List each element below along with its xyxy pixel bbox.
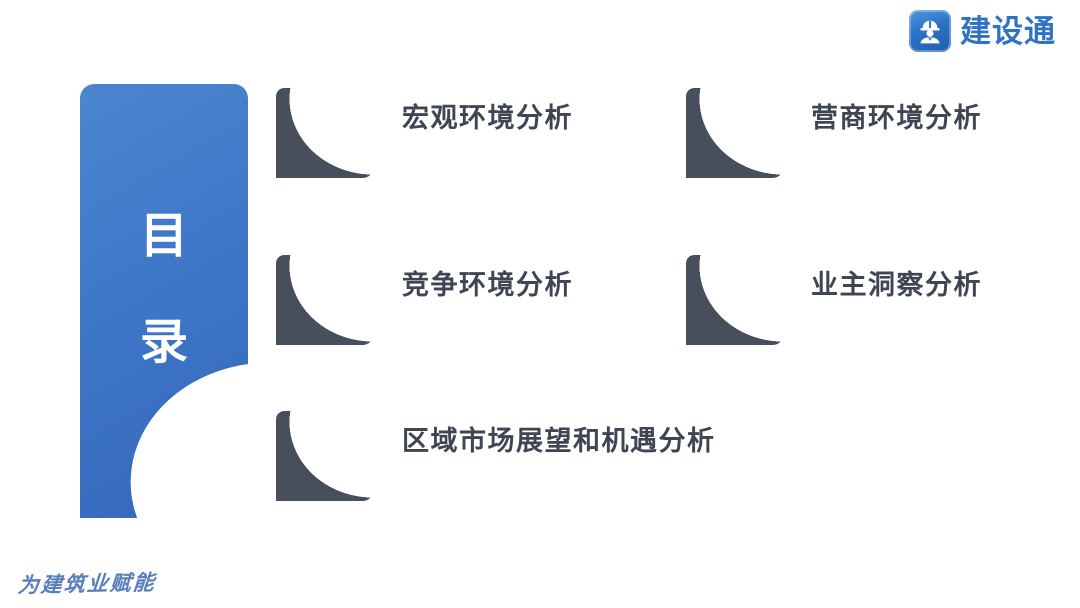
toc-badge-05: 05 (276, 411, 373, 501)
toc-number-01: 01 (276, 100, 373, 129)
brand-name: 建设通 (960, 16, 1056, 47)
toc-panel-label: 目 录 (140, 213, 188, 367)
toc-number-04: 04 (686, 267, 783, 296)
toc-entry-03[interactable]: 03 竞争环境分析 (276, 255, 573, 345)
toc-badge-01: 01 (276, 88, 373, 178)
toc-entry-01[interactable]: 01 宏观环境分析 (276, 88, 573, 178)
toc-title-04[interactable]: 业主洞察分析 (811, 255, 982, 299)
toc-badge-02: 02 (686, 88, 783, 178)
toc-title-05[interactable]: 区域市场展望和机遇分析 (402, 411, 716, 455)
toc-panel-char-bottom: 录 (140, 319, 188, 367)
toc-entry-05[interactable]: 05 区域市场展望和机遇分析 (276, 411, 716, 501)
slide-canvas: 建设通 目 录 01 宏观环境分析 02 营商环境分析 03 竞争环境分析 04 (0, 0, 1080, 608)
toc-panel: 目 录 (80, 84, 248, 518)
toc-panel-char-top: 目 (140, 213, 188, 261)
brand-logo: 建设通 (909, 10, 1056, 52)
toc-number-05: 05 (276, 423, 373, 452)
toc-number-03: 03 (276, 267, 373, 296)
toc-title-02[interactable]: 营商环境分析 (811, 88, 982, 132)
hardhat-worker-icon (909, 10, 951, 52)
toc-title-01[interactable]: 宏观环境分析 (402, 88, 573, 132)
toc-number-02: 02 (686, 100, 783, 129)
footer-slogan: 为建筑业赋能 (17, 567, 158, 600)
toc-badge-04: 04 (686, 255, 783, 345)
toc-entry-04[interactable]: 04 业主洞察分析 (686, 255, 982, 345)
toc-entry-02[interactable]: 02 营商环境分析 (686, 88, 982, 178)
toc-badge-03: 03 (276, 255, 373, 345)
toc-title-03[interactable]: 竞争环境分析 (402, 255, 573, 299)
